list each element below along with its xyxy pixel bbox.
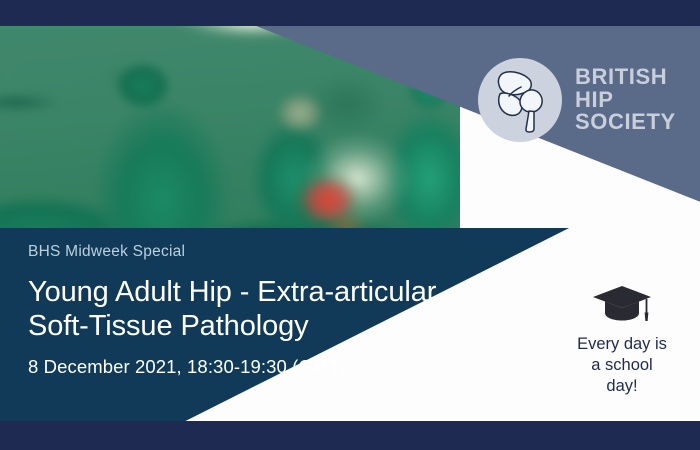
logo-wordmark: BRITISH HIP SOCIETY: [575, 66, 676, 135]
school-day-group: Every day is a school day!: [558, 283, 686, 396]
event-headline: Young Adult Hip - Extra-articular Soft-T…: [28, 275, 568, 343]
logo-line-3: SOCIETY: [575, 111, 676, 134]
top-navy-band: [0, 0, 700, 26]
british-hip-society-logo: BRITISH HIP SOCIETY: [478, 58, 676, 142]
event-datetime: 8 December 2021, 18:30-19:30 (GMT): [28, 356, 568, 378]
graduation-cap-icon: [591, 283, 653, 325]
logo-circle-background: [478, 58, 562, 142]
logo-line-1: BRITISH: [575, 66, 676, 89]
school-day-text: Every day is a school day!: [558, 334, 686, 396]
logo-line-2: HIP: [575, 89, 676, 112]
bottom-navy-band: [0, 421, 700, 450]
hip-bone-icon: [491, 67, 549, 133]
event-text-group: BHS Midweek Special Young Adult Hip - Ex…: [28, 243, 568, 378]
event-kicker: BHS Midweek Special: [28, 243, 568, 261]
event-banner: BRITISH HIP SOCIETY BHS Midweek Special …: [0, 0, 700, 450]
